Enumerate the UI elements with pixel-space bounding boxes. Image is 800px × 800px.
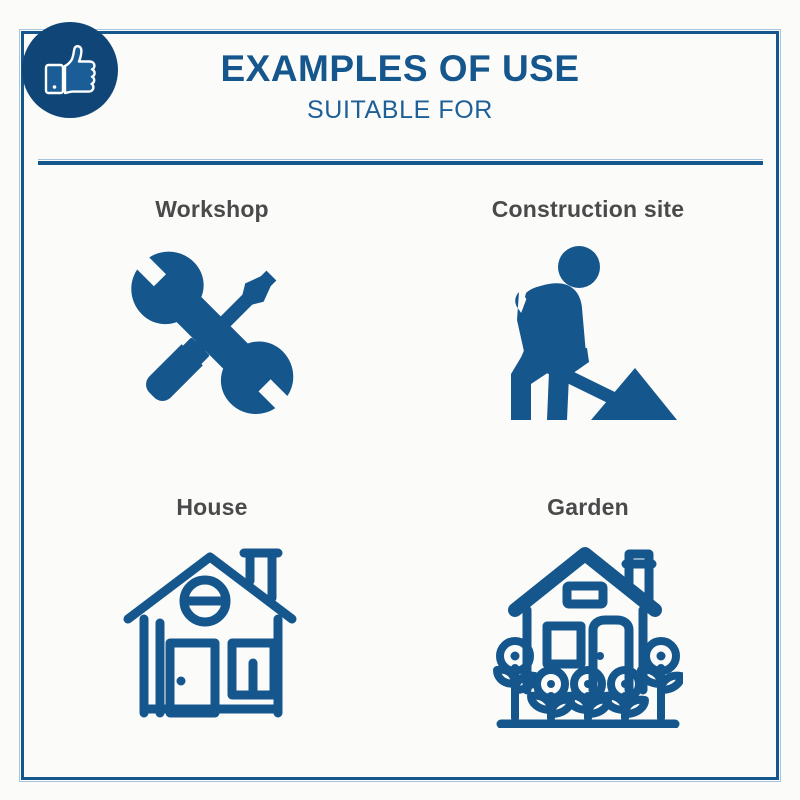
example-item-construction-site: Construction site xyxy=(400,180,776,478)
house-icon xyxy=(112,535,312,730)
example-label-garden: Garden xyxy=(547,494,629,521)
poster-header: EXAMPLES OF USE SUITABLE FOR xyxy=(21,50,779,125)
thumbs-up-badge xyxy=(22,22,118,118)
examples-of-use-poster: EXAMPLES OF USE SUITABLE FOR Workshop xyxy=(0,0,800,800)
example-label-workshop: Workshop xyxy=(155,196,269,223)
page-title: EXAMPLES OF USE xyxy=(21,50,779,89)
thumbs-up-icon xyxy=(39,39,101,101)
example-label-construction-site: Construction site xyxy=(492,196,685,223)
example-label-house: House xyxy=(176,494,247,521)
page-subtitle: SUITABLE FOR xyxy=(21,96,779,125)
example-item-house: House xyxy=(24,478,400,776)
wrench-screwdriver-icon xyxy=(112,237,312,432)
construction-worker-icon xyxy=(488,237,688,432)
example-item-workshop: Workshop xyxy=(24,180,400,478)
examples-grid: Workshop xyxy=(24,180,776,776)
header-divider xyxy=(38,161,763,165)
house-with-flowers-icon xyxy=(488,535,688,730)
example-item-garden: Garden xyxy=(400,478,776,776)
